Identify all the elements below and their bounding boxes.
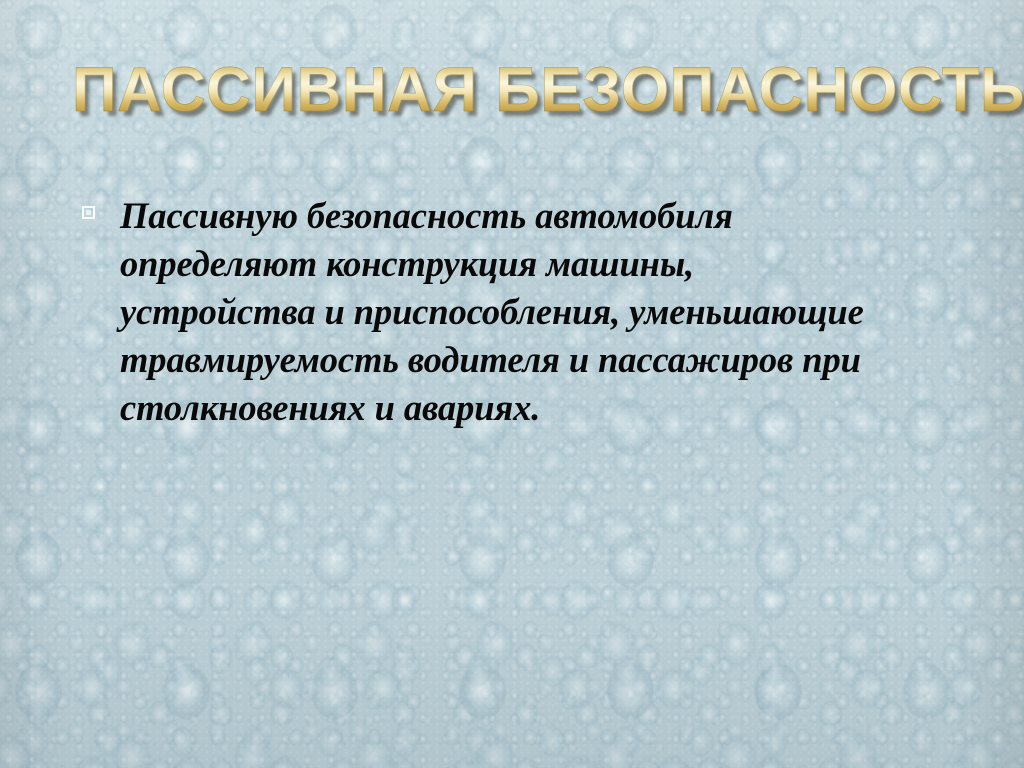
list-item: Пассивную безопасность автомобиля опреде… bbox=[78, 192, 958, 432]
body-paragraph: Пассивную безопасность автомобиля опреде… bbox=[78, 192, 958, 432]
body-line: Пассивную безопасность автомобиля bbox=[120, 192, 958, 240]
slide-title: ПАССИВНАЯ БЕЗОПАСНОСТЬ ПАССИВНАЯ БЕЗОПАС… bbox=[72, 56, 972, 134]
body-line: столкновениях и авариях. bbox=[120, 384, 958, 432]
body-line: определяют конструкция машины, bbox=[120, 240, 958, 288]
slide-title-text: ПАССИВНАЯ БЕЗОПАСНОСТЬ bbox=[72, 56, 1024, 124]
body-line: травмируемость водителя и пассажиров при bbox=[120, 336, 958, 384]
body-line: устройства и приспособления, уменьшающие bbox=[120, 288, 958, 336]
presentation-slide: ПАССИВНАЯ БЕЗОПАСНОСТЬ ПАССИВНАЯ БЕЗОПАС… bbox=[0, 0, 1024, 768]
slide-body: Пассивную безопасность автомобиля опреде… bbox=[78, 192, 958, 432]
square-bullet-icon bbox=[82, 206, 95, 219]
